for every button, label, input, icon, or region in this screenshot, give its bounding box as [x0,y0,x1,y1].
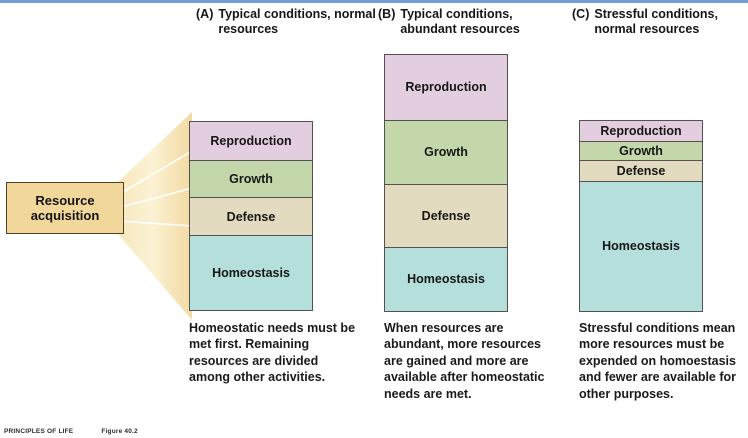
column-tag-b: (B) [378,7,395,22]
segment-c-homeostasis: Homeostasis [580,182,702,311]
resource-acquisition-box: Resource acquisition [6,182,124,234]
segment-a-homeostasis: Homeostasis [190,236,312,310]
fan-body [118,112,192,320]
segment-label: Defense [227,210,276,224]
stacked-bar-a: ReproductionGrowthDefenseHomeostasis [189,121,313,311]
caption-a: Homeostatic needs must be met first. Rem… [189,320,361,386]
stacked-bar-c: ReproductionGrowthDefenseHomeostasis [579,120,703,312]
column-header-a: (A) Typical conditions, normal resources [196,7,381,37]
column-heading-a: Typical conditions, normal resources [218,7,381,37]
segment-label: Homeostasis [407,272,485,286]
segment-b-defense: Defense [385,185,507,248]
caption-c: Stressful conditions mean more resources… [579,320,748,402]
segment-a-growth: Growth [190,161,312,198]
segment-label: Homeostasis [602,239,680,253]
segment-c-reproduction: Reproduction [580,121,702,142]
column-heading-c: Stressful conditions, normal resources [594,7,748,37]
column-header-b: (B) Typical conditions, abundant resourc… [378,7,568,37]
segment-b-homeostasis: Homeostasis [385,248,507,311]
column-header-c: (C) Stressful conditions, normal resourc… [572,7,748,37]
segment-label: Defense [617,164,666,178]
footer-figure-number: Figure 40.2 [101,428,138,435]
caption-b: When resources are abundant, more resour… [384,320,562,402]
segment-label: Defense [422,209,471,223]
resource-acquisition-line1: Resource [35,193,94,208]
segment-label: Growth [229,172,273,186]
segment-label: Reproduction [210,134,291,148]
figure-footer: PRINCIPLES OF LIFE Figure 40.2 [4,428,138,435]
segment-label: Growth [424,145,468,159]
segment-b-reproduction: Reproduction [385,55,507,121]
segment-label: Reproduction [405,80,486,94]
stacked-bar-b: ReproductionGrowthDefenseHomeostasis [384,54,508,312]
resource-acquisition-line2: acquisition [31,208,100,223]
column-tag-a: (A) [196,7,213,22]
segment-label: Growth [619,144,663,158]
segment-a-defense: Defense [190,198,312,236]
segment-a-reproduction: Reproduction [190,122,312,161]
resource-allocation-fan [118,112,192,320]
footer-book-title: PRINCIPLES OF LIFE [4,428,73,435]
column-heading-b: Typical conditions, abundant resources [400,7,568,37]
segment-label: Homeostasis [212,266,290,280]
top-rule-divider [0,0,748,3]
segment-label: Reproduction [600,124,681,138]
segment-b-growth: Growth [385,121,507,185]
segment-c-growth: Growth [580,142,702,162]
segment-c-defense: Defense [580,161,702,182]
column-tag-c: (C) [572,7,589,22]
